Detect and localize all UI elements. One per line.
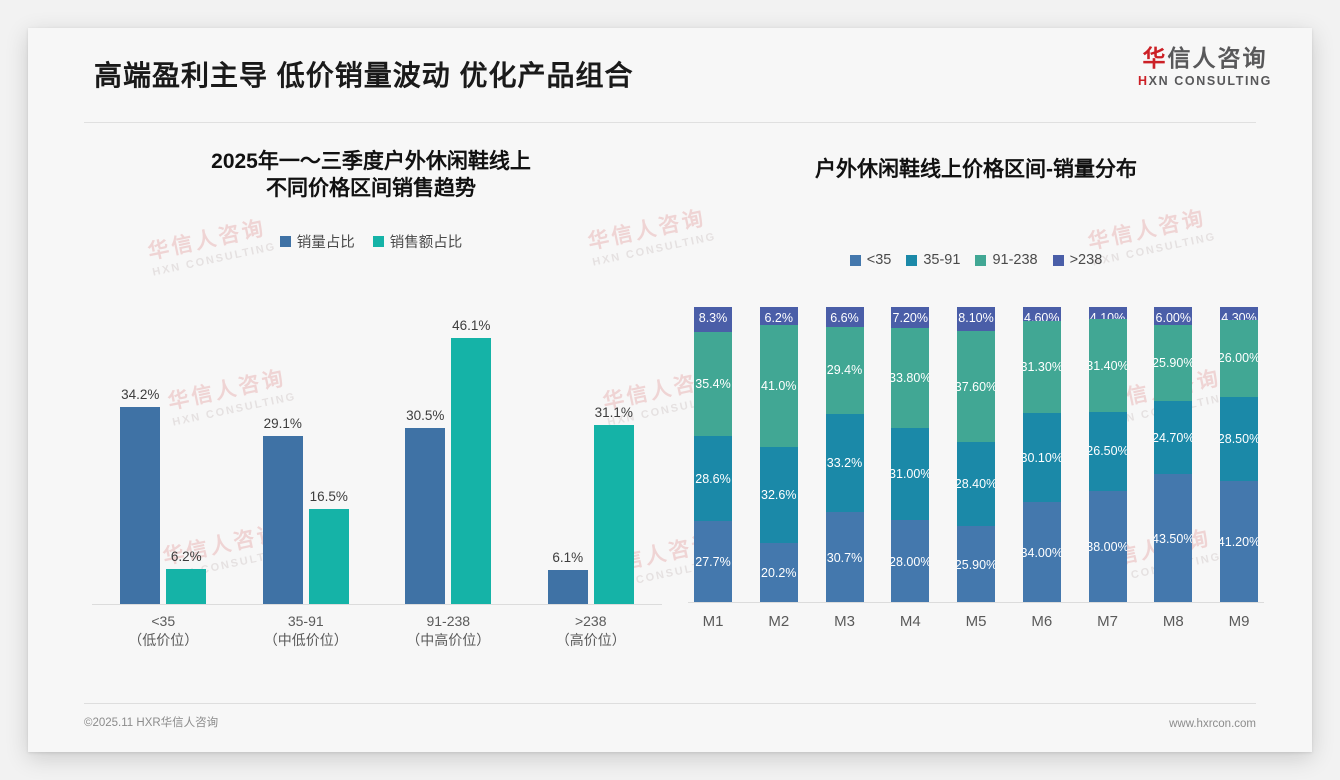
segment-value-label: 30.10%	[1023, 451, 1061, 465]
segment-value-label: 31.00%	[891, 467, 929, 481]
stack-segment[interactable]: 28.00%	[891, 520, 929, 603]
stack-segment[interactable]: 30.10%	[1023, 413, 1061, 502]
legend-label: 销售额占比	[390, 231, 463, 252]
stack-segment[interactable]: 43.50%	[1154, 474, 1192, 603]
bar-column[interactable]: 6.2%	[166, 315, 206, 605]
segment-value-label: 26.50%	[1089, 444, 1127, 458]
stacked-columns: 8.3%35.4%28.6%27.7%6.2%41.0%32.6%20.2%6.…	[688, 307, 1264, 603]
stack-segment[interactable]: 26.00%	[1220, 320, 1258, 397]
logo-en-accent: H	[1138, 74, 1149, 88]
legend-label: <35	[867, 252, 892, 268]
grouped-bar-chart: 34.2%6.2%29.1%16.5%30.5%46.1%6.1%31.1% <…	[92, 315, 662, 647]
segment-value-label: 29.4%	[827, 363, 862, 377]
legend-label: 销量占比	[297, 231, 355, 252]
bar-column[interactable]: 46.1%	[451, 315, 491, 605]
segment-value-label: 31.40%	[1089, 359, 1127, 373]
legend-item-revenue[interactable]: 销售额占比	[373, 231, 463, 252]
x-axis-label-main: <35	[103, 612, 223, 631]
segment-value-label: 4.60%	[1024, 311, 1059, 321]
footer-divider	[84, 703, 1256, 704]
slide-canvas: 华信人咨询 HXN CONSULTING 华信人咨询 HXN CONSULTIN…	[28, 28, 1312, 752]
segment-value-label: 28.00%	[891, 555, 929, 569]
x-axis-label-main: >238	[531, 612, 651, 631]
legend-swatch-icon	[373, 236, 384, 247]
bar-rect[interactable]	[594, 425, 634, 605]
x-axis-labels: M1M2M3M4M5M6M7M8M9	[688, 603, 1264, 647]
stacked-column[interactable]: 4.10%31.40%26.50%38.00%	[1089, 307, 1127, 603]
stacked-column[interactable]: 8.3%35.4%28.6%27.7%	[694, 307, 732, 603]
segment-value-label: 25.90%	[957, 558, 995, 572]
stack-segment[interactable]: 20.2%	[760, 543, 798, 603]
stack-segment[interactable]: 6.6%	[826, 307, 864, 327]
stack-segment[interactable]: 41.20%	[1220, 481, 1258, 603]
logo-english-text: HXN CONSULTING	[1138, 74, 1272, 88]
stack-segment[interactable]: 28.40%	[957, 442, 995, 526]
logo-accent-char: 华	[1143, 45, 1168, 71]
x-axis-label: M9	[1220, 613, 1258, 647]
legend-swatch-icon	[906, 255, 917, 266]
segment-value-label: 4.10%	[1090, 311, 1125, 319]
legend-label: 35-91	[923, 252, 960, 268]
x-axis-label: M6	[1023, 613, 1061, 647]
footer-website[interactable]: www.hxrcon.com	[1169, 718, 1256, 730]
bar-value-label: 16.5%	[310, 489, 348, 504]
legend-swatch-icon	[1053, 255, 1064, 266]
stack-segment[interactable]: 26.50%	[1089, 412, 1127, 490]
stack-segment[interactable]: 38.00%	[1089, 491, 1127, 603]
stack-segment[interactable]: 32.6%	[760, 447, 798, 544]
legend-swatch-icon	[975, 255, 986, 266]
bar-value-label: 29.1%	[264, 416, 302, 431]
stack-segment[interactable]: 31.30%	[1023, 321, 1061, 414]
bar-group: 29.1%16.5%	[246, 315, 366, 605]
x-axis-labels: <35（低价位）35-91（中低价位）91-238（中高价位）>238（高价位）	[92, 605, 662, 647]
x-axis-label-sub: （中低价位）	[246, 631, 366, 650]
legend-item-<35[interactable]: <35	[850, 252, 892, 268]
page-title: 高端盈利主导 低价销量波动 优化产品组合	[94, 54, 634, 94]
logo-chinese-text: 华信人咨询	[1138, 46, 1272, 71]
segment-value-label: 33.2%	[827, 456, 862, 470]
stack-segment[interactable]: 25.90%	[1154, 325, 1192, 402]
segment-value-label: 30.7%	[827, 551, 862, 565]
stack-segment[interactable]: 31.40%	[1089, 319, 1127, 412]
segment-value-label: 8.10%	[958, 311, 993, 325]
left-chart-panel: 2025年一～三季度户外休闲鞋线上 不同价格区间销售趋势 销量占比 销售额占比 …	[66, 132, 676, 692]
segment-value-label: 26.00%	[1220, 351, 1258, 365]
segment-value-label: 41.0%	[761, 379, 796, 393]
legend-label: >238	[1070, 252, 1103, 268]
bar-column[interactable]: 6.1%	[548, 315, 588, 605]
x-axis-label-main: 91-238	[388, 612, 508, 631]
bar-rect[interactable]	[263, 436, 303, 605]
stacked-column[interactable]: 6.00%25.90%24.70%43.50%	[1154, 307, 1192, 603]
legend-item-volume[interactable]: 销量占比	[280, 231, 355, 252]
stack-segment[interactable]: 25.90%	[957, 526, 995, 603]
stack-segment[interactable]: 35.4%	[694, 332, 732, 437]
x-axis-label-sub: （中高价位）	[388, 631, 508, 650]
stacked-column[interactable]: 6.2%41.0%32.6%20.2%	[760, 307, 798, 603]
x-axis-label: 91-238（中高价位）	[388, 612, 508, 650]
stack-segment[interactable]: 37.60%	[957, 331, 995, 442]
bar-rect[interactable]	[451, 338, 491, 605]
x-axis-label: <35（低价位）	[103, 612, 223, 650]
segment-value-label: 6.00%	[1156, 311, 1191, 325]
segment-value-label: 34.00%	[1023, 546, 1061, 560]
bar-value-label: 31.1%	[595, 405, 633, 420]
bar-rect[interactable]	[309, 509, 349, 605]
segment-value-label: 25.90%	[1154, 356, 1192, 370]
left-chart-title-line1: 2025年一～三季度户外休闲鞋线上	[90, 148, 652, 175]
stack-segment[interactable]: 33.80%	[891, 328, 929, 428]
segment-value-label: 38.00%	[1089, 540, 1127, 554]
x-axis-label: >238（高价位）	[531, 612, 651, 650]
segment-value-label: 6.2%	[765, 311, 794, 325]
stack-segment[interactable]: 24.70%	[1154, 401, 1192, 474]
bar-groups: 34.2%6.2%29.1%16.5%30.5%46.1%6.1%31.1%	[92, 315, 662, 605]
stacked-column[interactable]: 4.30%26.00%28.50%41.20%	[1220, 307, 1258, 603]
x-axis-label-sub: （高价位）	[531, 631, 651, 650]
stack-segment[interactable]: 34.00%	[1023, 502, 1061, 603]
x-axis-label-sub: （低价位）	[103, 631, 223, 650]
segment-value-label: 43.50%	[1154, 532, 1192, 546]
legend-swatch-icon	[280, 236, 291, 247]
left-chart-title: 2025年一～三季度户外休闲鞋线上 不同价格区间销售趋势	[66, 148, 676, 203]
segment-value-label: 28.6%	[695, 472, 730, 486]
stack-segment[interactable]: 28.6%	[694, 436, 732, 521]
bar-column[interactable]: 34.2%	[120, 315, 160, 605]
legend-item-35-91[interactable]: 35-91	[906, 252, 960, 268]
segment-value-label: 41.20%	[1220, 535, 1258, 549]
right-chart-panel: 户外休闲鞋线上价格区间-销量分布 <3535-9191-238>238 8.3%…	[676, 132, 1276, 692]
x-axis-label-main: 35-91	[246, 612, 366, 631]
segment-value-label: 37.60%	[957, 380, 995, 394]
legend-item->238[interactable]: >238	[1053, 252, 1103, 268]
slide-header: 高端盈利主导 低价销量波动 优化产品组合 华信人咨询 HXN CONSULTIN…	[28, 28, 1312, 122]
stack-segment[interactable]: 6.2%	[760, 307, 798, 325]
segment-value-label: 31.30%	[1023, 360, 1061, 374]
logo-en-rest: XN CONSULTING	[1149, 74, 1272, 88]
stack-segment[interactable]: 28.50%	[1220, 397, 1258, 481]
bar-value-label: 30.5%	[406, 408, 444, 423]
legend-swatch-icon	[850, 255, 861, 266]
legend-label: 91-238	[992, 252, 1037, 268]
segment-value-label: 28.50%	[1220, 432, 1258, 446]
stack-segment[interactable]: 31.00%	[891, 428, 929, 520]
stacked-bar-chart: 8.3%35.4%28.6%27.7%6.2%41.0%32.6%20.2%6.…	[688, 307, 1264, 647]
bar-group: 6.1%31.1%	[531, 315, 651, 605]
stack-segment[interactable]: 4.10%	[1089, 307, 1127, 319]
bar-value-label: 6.2%	[171, 549, 202, 564]
x-axis-label: M5	[957, 613, 995, 647]
bar-group: 34.2%6.2%	[103, 315, 223, 605]
company-logo: 华信人咨询 HXN CONSULTING	[1138, 46, 1272, 88]
stack-segment[interactable]: 6.00%	[1154, 307, 1192, 325]
x-axis-label: 35-91（中低价位）	[246, 612, 366, 650]
x-axis-label: M3	[826, 613, 864, 647]
logo-rest-chars: 信人咨询	[1168, 45, 1268, 71]
bar-rect[interactable]	[405, 428, 445, 605]
footer-copyright: ©2025.11 HXR华信人咨询	[84, 714, 218, 730]
bar-value-label: 46.1%	[452, 318, 490, 333]
segment-value-label: 35.4%	[695, 377, 730, 391]
stack-segment[interactable]: 7.20%	[891, 307, 929, 328]
segment-value-label: 20.2%	[761, 566, 796, 580]
stack-segment[interactable]: 41.0%	[760, 325, 798, 446]
bar-group: 30.5%46.1%	[388, 315, 508, 605]
x-axis-label: M8	[1154, 613, 1192, 647]
segment-value-label: 28.40%	[957, 477, 995, 491]
bar-rect[interactable]	[120, 407, 160, 605]
segment-value-label: 6.6%	[830, 311, 859, 325]
x-axis-label: M4	[891, 613, 929, 647]
stack-segment[interactable]: 8.3%	[694, 307, 732, 332]
stack-segment[interactable]: 8.10%	[957, 307, 995, 331]
bar-value-label: 6.1%	[552, 550, 583, 565]
left-chart-legend: 销量占比 销售额占比	[66, 231, 676, 252]
stack-segment[interactable]: 29.4%	[826, 327, 864, 414]
bar-column[interactable]: 29.1%	[263, 315, 303, 605]
stacked-column[interactable]: 8.10%37.60%28.40%25.90%	[957, 307, 995, 603]
bar-column[interactable]: 16.5%	[309, 315, 349, 605]
segment-value-label: 27.7%	[695, 555, 730, 569]
bar-rect[interactable]	[166, 569, 206, 605]
x-axis-label: M2	[760, 613, 798, 647]
x-axis-label: M7	[1089, 613, 1127, 647]
stacked-column[interactable]: 7.20%33.80%31.00%28.00%	[891, 307, 929, 603]
right-chart-legend: <3535-9191-238>238	[676, 252, 1276, 268]
bar-column[interactable]: 30.5%	[405, 315, 445, 605]
segment-value-label: 4.30%	[1221, 311, 1256, 320]
header-divider	[84, 122, 1256, 123]
stack-segment[interactable]: 33.2%	[826, 414, 864, 512]
bar-value-label: 34.2%	[121, 387, 159, 402]
bar-rect[interactable]	[548, 570, 588, 605]
segment-value-label: 24.70%	[1154, 431, 1192, 445]
segment-value-label: 8.3%	[699, 311, 728, 325]
stacked-column[interactable]: 4.60%31.30%30.10%34.00%	[1023, 307, 1061, 603]
stack-segment[interactable]: 4.60%	[1023, 307, 1061, 321]
x-axis-label: M1	[694, 613, 732, 647]
segment-value-label: 32.6%	[761, 488, 796, 502]
right-chart-title: 户外休闲鞋线上价格区间-销量分布	[676, 156, 1276, 183]
stacked-column[interactable]: 6.6%29.4%33.2%30.7%	[826, 307, 864, 603]
bar-column[interactable]: 31.1%	[594, 315, 634, 605]
legend-item-91-238[interactable]: 91-238	[975, 252, 1037, 268]
stack-segment[interactable]: 30.7%	[826, 512, 864, 603]
segment-value-label: 7.20%	[893, 311, 928, 325]
segment-value-label: 33.80%	[891, 371, 929, 385]
left-chart-title-line2: 不同价格区间销售趋势	[90, 175, 652, 202]
stack-segment[interactable]: 27.7%	[694, 521, 732, 603]
stack-segment[interactable]: 4.30%	[1220, 307, 1258, 320]
